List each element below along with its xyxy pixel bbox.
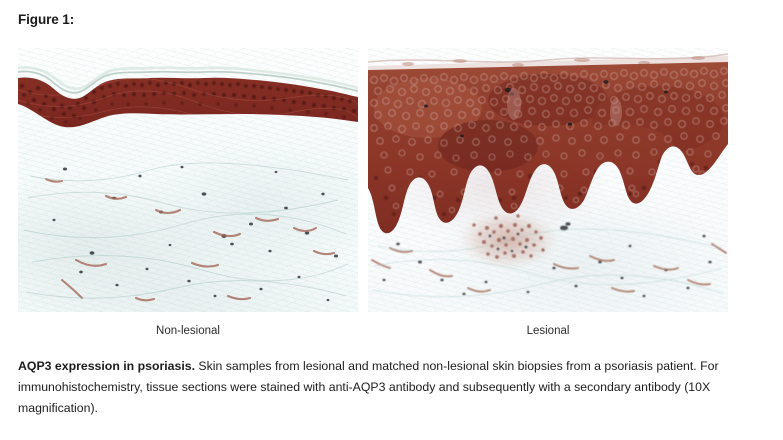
micrograph-non-lesional[interactable] [18,48,358,312]
epidermis-aqp3-stain-thickened [368,48,728,312]
figure-page: Figure 1: [0,0,783,440]
figure-caption-title: AQP3 expression in psoriasis. [18,359,195,373]
figure-heading: Figure 1: [18,12,74,27]
micrograph-lesional[interactable] [368,48,728,312]
epidermis-aqp3-stain [18,48,358,312]
panel-label-non-lesional: Non-lesional [18,325,358,337]
micrograph-canvas-non-lesional [18,48,358,312]
figure-caption: AQP3 expression in psoriasis. Skin sampl… [18,356,766,419]
micrograph-panel-row [18,48,728,312]
panel-label-lesional: Lesional [368,325,728,337]
micrograph-canvas-lesional [368,48,728,312]
